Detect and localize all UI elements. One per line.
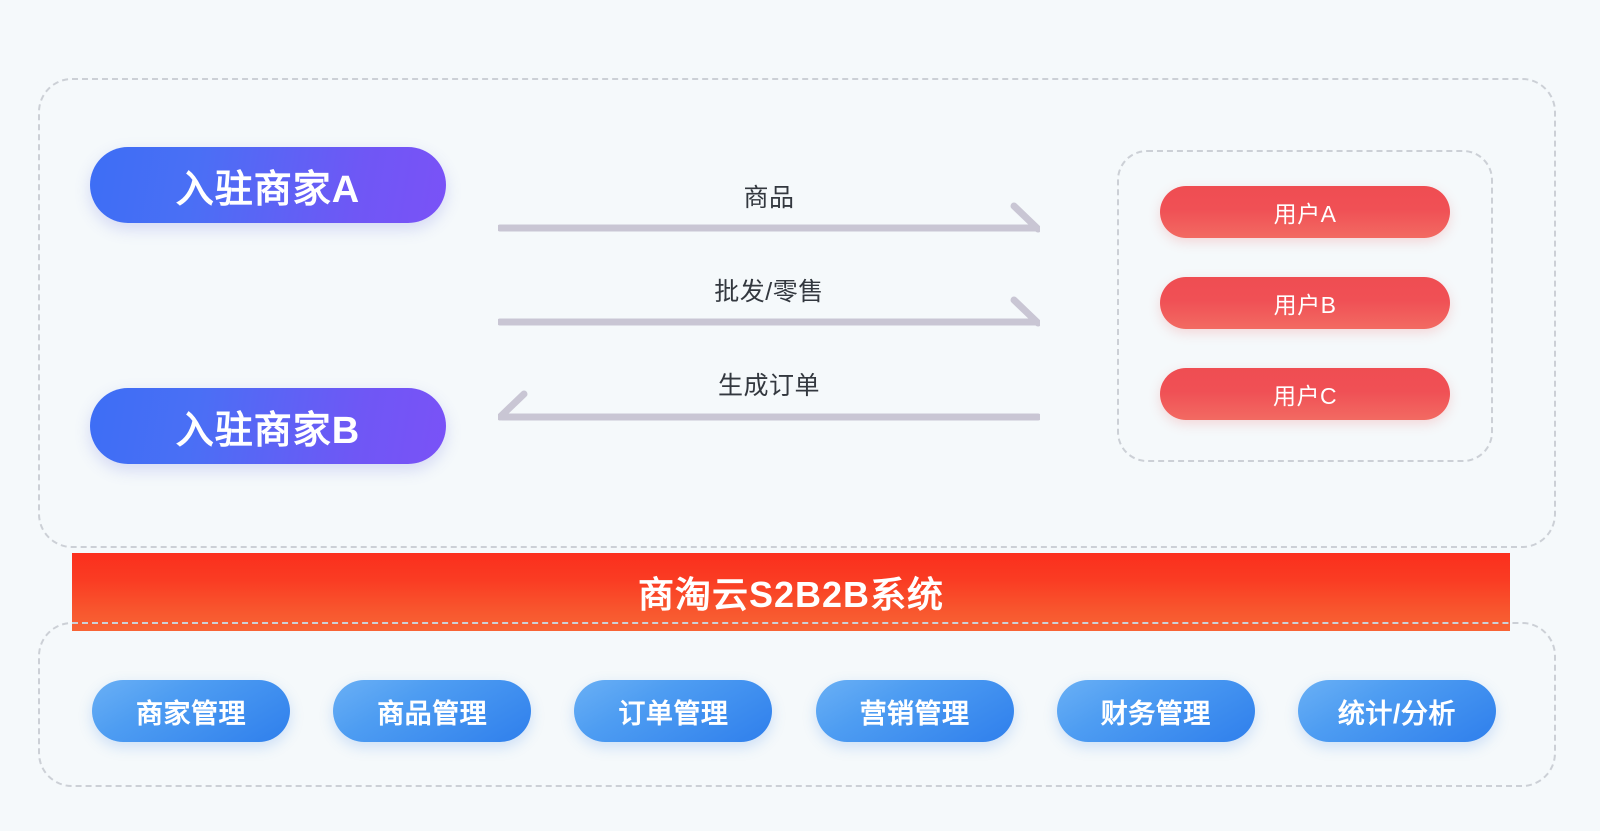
merchant-b-label: 入驻商家B	[176, 399, 360, 454]
module-pill-merchant-management[interactable]: 商家管理	[92, 680, 290, 742]
module-pill-finance-management[interactable]: 财务管理	[1057, 680, 1255, 742]
user-pill-c[interactable]: 用户C	[1160, 368, 1450, 420]
flow-arrow-create-order	[498, 386, 1040, 432]
user-a-label: 用户A	[1274, 195, 1337, 229]
user-pill-b[interactable]: 用户B	[1160, 277, 1450, 329]
module-pill-product-management[interactable]: 商品管理	[333, 680, 531, 742]
module-pill-marketing-management[interactable]: 营销管理	[816, 680, 1014, 742]
user-pill-a[interactable]: 用户A	[1160, 186, 1450, 238]
module-label-1: 商品管理	[377, 692, 487, 731]
merchant-pill-a[interactable]: 入驻商家A	[90, 147, 446, 223]
module-pill-order-management[interactable]: 订单管理	[574, 680, 772, 742]
user-b-label: 用户B	[1274, 286, 1337, 320]
module-label-3: 营销管理	[860, 692, 970, 731]
module-label-5: 统计/分析	[1338, 692, 1456, 731]
user-c-label: 用户C	[1273, 377, 1337, 411]
merchant-a-label: 入驻商家A	[176, 158, 360, 213]
module-label-0: 商家管理	[136, 692, 246, 731]
merchant-pill-b[interactable]: 入驻商家B	[90, 388, 446, 464]
system-banner-title: 商淘云S2B2B系统	[638, 566, 944, 618]
module-label-4: 财务管理	[1101, 692, 1211, 731]
flow-arrow-goods	[498, 198, 1040, 244]
system-banner: 商淘云S2B2B系统	[72, 553, 1510, 631]
flow-arrow-wholesale-retail	[498, 292, 1040, 338]
modules-row: 商家管理 商品管理 订单管理 营销管理 财务管理 统计/分析	[92, 680, 1496, 742]
module-pill-statistics-analysis[interactable]: 统计/分析	[1298, 680, 1496, 742]
module-label-2: 订单管理	[618, 692, 728, 731]
diagram-canvas: 入驻商家A 入驻商家B 商品 批发/零售 生成订单 用户A 用户B 用户C	[0, 0, 1600, 831]
